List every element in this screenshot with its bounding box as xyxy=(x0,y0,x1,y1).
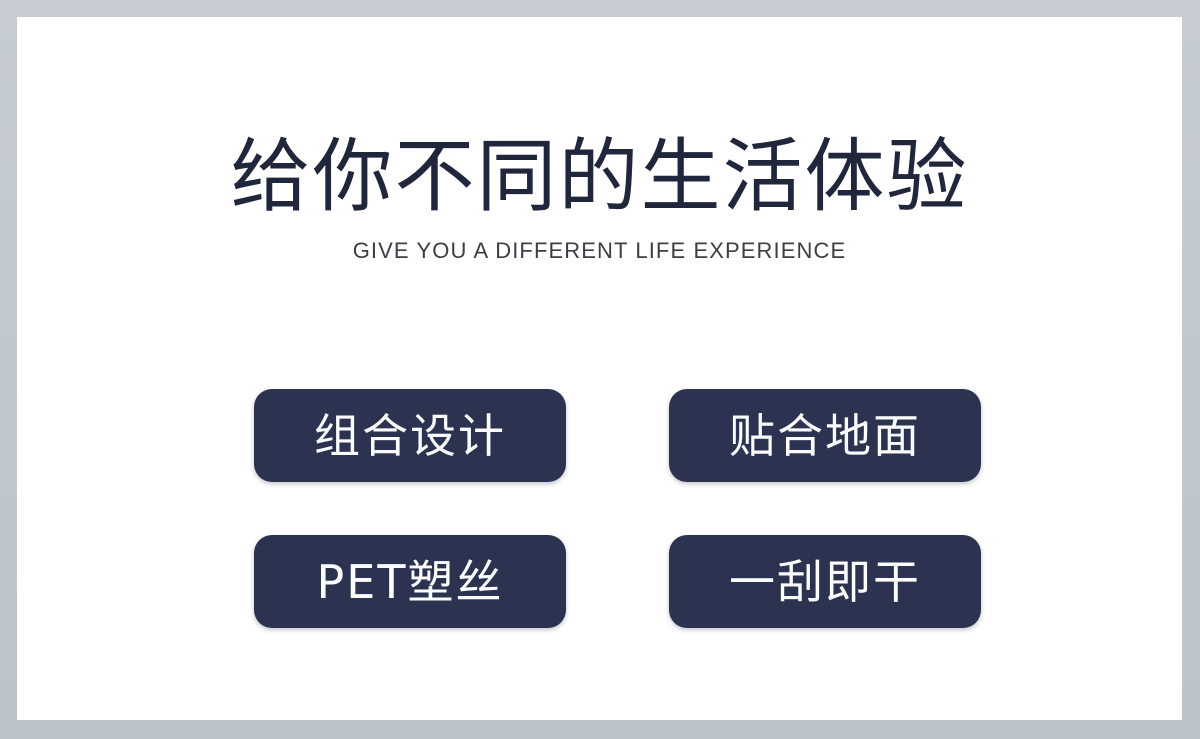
page-title: 给你不同的生活体验 xyxy=(17,135,1182,218)
feature-badge-label: 一刮即干 xyxy=(729,559,921,605)
banner-frame: 给你不同的生活体验 GIVE YOU A DIFFERENT LIFE EXPE… xyxy=(0,0,1200,739)
feature-badge-dries-instantly[interactable]: 一刮即干 xyxy=(669,535,981,628)
banner-canvas: 给你不同的生活体验 GIVE YOU A DIFFERENT LIFE EXPE… xyxy=(17,17,1182,720)
feature-badge-pet-filament[interactable]: PET塑丝 xyxy=(254,535,566,628)
headline-block: 给你不同的生活体验 GIVE YOU A DIFFERENT LIFE EXPE… xyxy=(17,135,1182,264)
feature-badge-label: 组合设计 xyxy=(314,413,506,459)
feature-badge-label: PET塑丝 xyxy=(317,559,504,605)
feature-badge-grid: 组合设计 贴合地面 PET塑丝 一刮即干 xyxy=(254,389,981,628)
page-subtitle: GIVE YOU A DIFFERENT LIFE EXPERIENCE xyxy=(17,238,1182,264)
feature-badge-label: 贴合地面 xyxy=(729,413,921,459)
feature-badge-combination-design[interactable]: 组合设计 xyxy=(254,389,566,482)
feature-badge-fits-ground[interactable]: 贴合地面 xyxy=(669,389,981,482)
